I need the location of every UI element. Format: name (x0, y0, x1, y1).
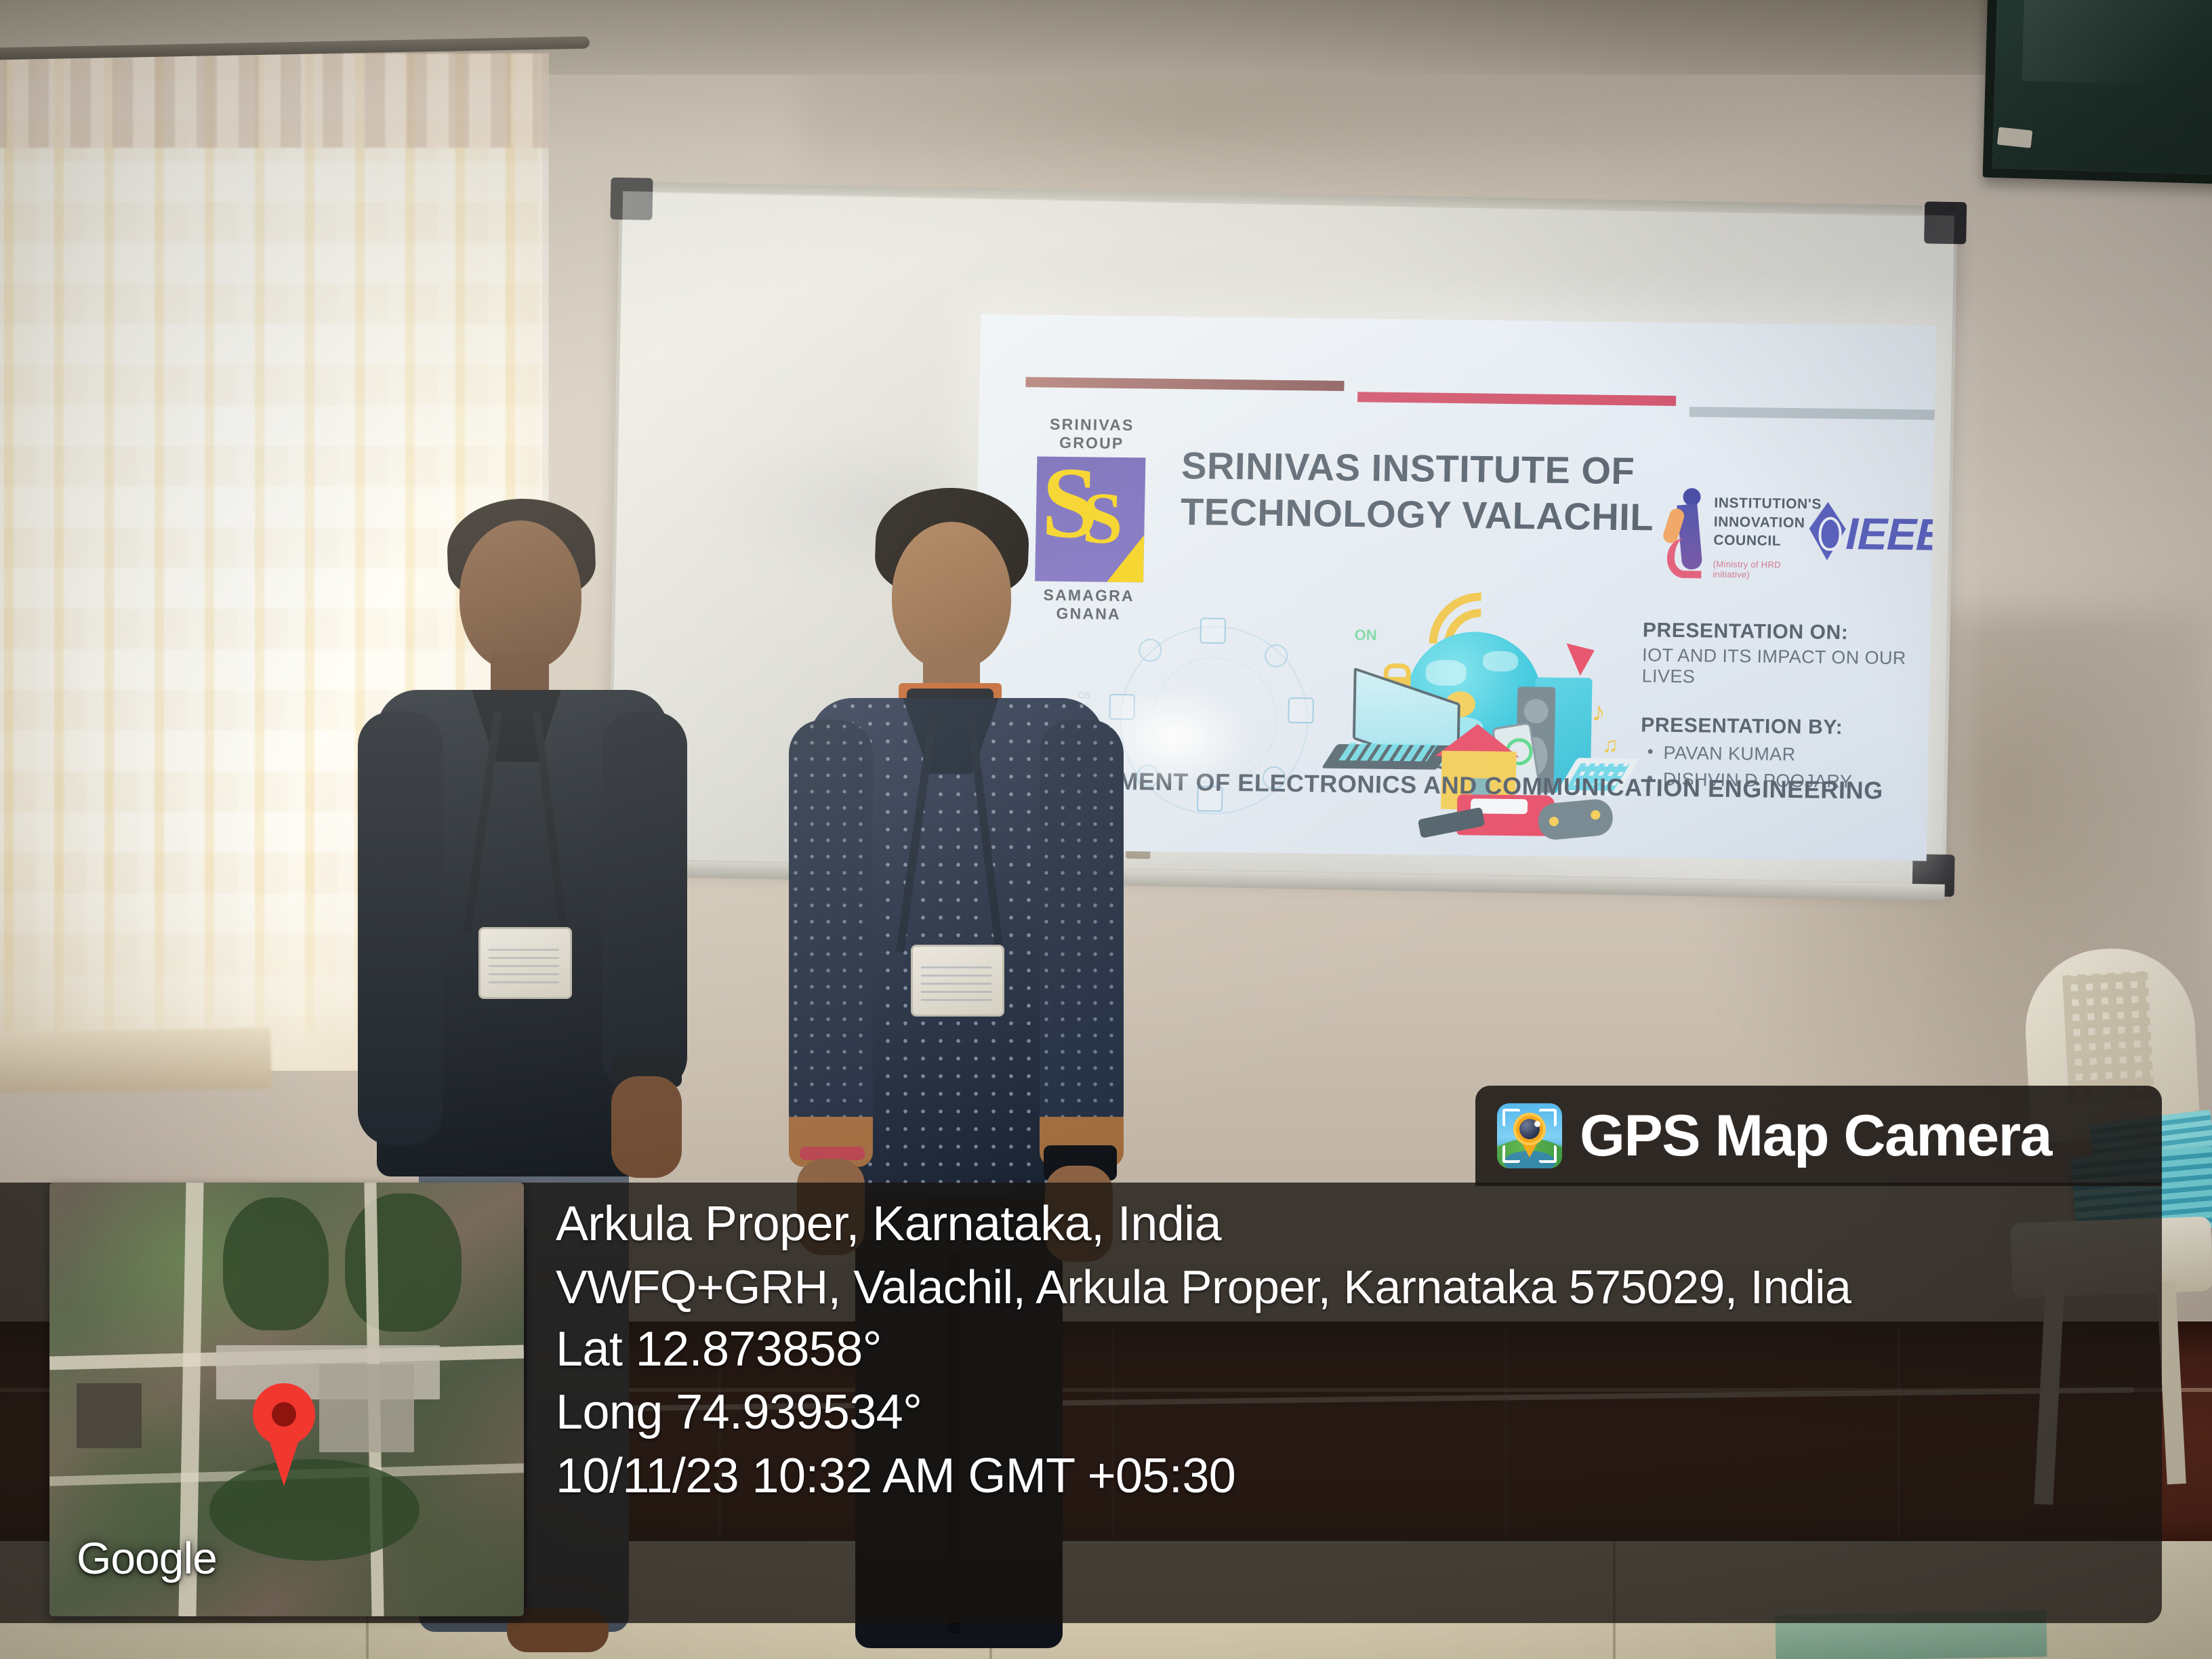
map-vegetation (345, 1193, 462, 1332)
ieee-logo: IEEE (1802, 495, 1925, 571)
lineart-node (1200, 617, 1226, 643)
window-sill (0, 1027, 272, 1093)
presentation-on-label: PRESENTATION ON: (1643, 619, 1928, 645)
rule-bar-3 (1689, 407, 1937, 420)
person-right-head (892, 522, 1011, 670)
icon-bracket (1502, 1145, 1520, 1163)
gps-longitude: Long 74.939534° (556, 1381, 2135, 1445)
map-building (319, 1364, 414, 1452)
chalkboard-clip (1997, 127, 2032, 148)
whiteboard-corner (1924, 201, 1967, 244)
curtain-header (0, 53, 549, 148)
music-note-icon: ♪ (1591, 697, 1605, 728)
gps-app-title: GPS Map Camera (1580, 1107, 2051, 1165)
gps-address: VWFQ+GRH, Valachil, Arkula Proper, Karna… (556, 1256, 2135, 1318)
srinivas-group-top-label: SRINIVAS GROUP (1027, 415, 1157, 453)
person-right-wristband (800, 1147, 865, 1160)
music-note-icon: ♫ (1601, 733, 1618, 758)
person-right-arm (789, 720, 873, 1147)
gps-map-thumbnail[interactable]: Google (49, 1183, 524, 1616)
gps-details: Arkula Proper, Karnataka, India VWFQ+GRH… (556, 1193, 2135, 1508)
iic-logo: INSTITUTION'S INNOVATION COUNCIL (Minist… (1664, 485, 1798, 581)
icon-bracket (1539, 1145, 1557, 1163)
badge-text-lines (489, 944, 559, 983)
map-building (77, 1383, 142, 1448)
badge-text-lines (921, 960, 991, 1001)
icon-bracket (1539, 1109, 1557, 1126)
pink-arrow-icon (1566, 634, 1601, 676)
presentation-by-label: PRESENTATION BY: (1641, 714, 1926, 740)
laptop-keyboard (1338, 743, 1438, 761)
person-left-head (459, 520, 581, 671)
artwork-on-label: ON (1354, 626, 1376, 644)
presentation-info-block: PRESENTATION ON: IOT AND ITS IMPACT ON O… (1640, 619, 1928, 793)
person-left-arm (602, 712, 687, 1091)
gps-map-camera-icon (1497, 1103, 1562, 1168)
lineart-node (1288, 697, 1314, 723)
presentation-topic: IOT AND ITS IMPACT ON OUR LIVES (1641, 644, 1927, 690)
map-pin-center (272, 1402, 296, 1427)
person-left-hand (611, 1076, 682, 1178)
gps-timestamp: 10/11/23 10:32 AM GMT +05:30 (556, 1445, 2135, 1509)
icon-bracket (1502, 1109, 1520, 1126)
whiteboard-corner (610, 178, 653, 220)
presenter-name: PAVAN KUMAR (1640, 742, 1925, 766)
gamepad-icon (1537, 798, 1614, 841)
green-chalkboard (1983, 0, 2212, 186)
person-right-id-badge (911, 945, 1004, 1017)
map-vegetation (209, 1459, 419, 1561)
gps-app-header: GPS Map Camera (1475, 1086, 2162, 1186)
iic-subtitle: (Ministry of HRD initiative) (1713, 559, 1797, 580)
chalkboard-glare (2022, 0, 2212, 87)
google-watermark: Google (77, 1532, 217, 1584)
person-left-id-badge (478, 927, 572, 999)
slide-rule-bars (1025, 377, 1900, 405)
rule-bar-1 (1025, 377, 1344, 391)
iic-logo-mark (1664, 488, 1708, 577)
screenshot-root: SRINIVAS GROUP S S SAMAGRA GNANA SRINIVA… (0, 0, 2212, 1659)
gps-latitude: Lat 12.873858° (556, 1318, 2135, 1382)
institute-title: SRINIVAS INSTITUTE OF TECHNOLOGY VALACHI… (1180, 443, 1656, 541)
person-left-arm (358, 712, 443, 1145)
ieee-wordmark: IEEE (1845, 508, 1936, 560)
map-vegetation (223, 1197, 329, 1330)
iic-head (1683, 488, 1700, 506)
rule-bar-2 (1357, 392, 1676, 406)
iic-body-pink (1666, 538, 1702, 579)
person-right-arm (1040, 720, 1124, 1147)
gps-place-name: Arkula Proper, Karnataka, India (556, 1193, 2135, 1256)
chair-back-mesh (2062, 971, 2154, 1104)
